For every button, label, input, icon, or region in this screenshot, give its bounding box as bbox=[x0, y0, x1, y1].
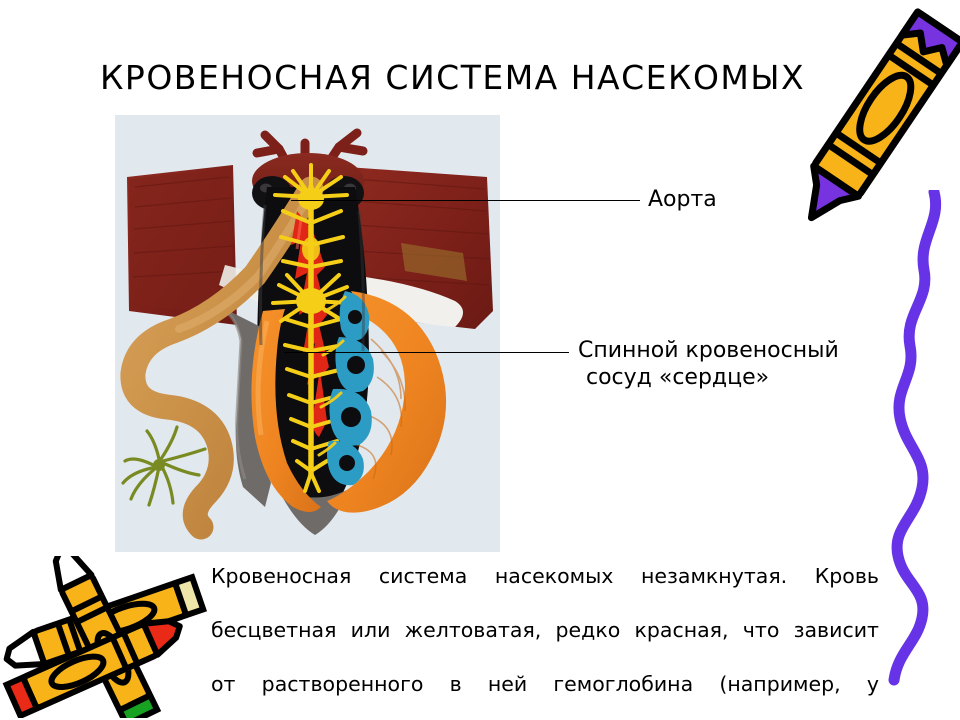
slide-root: КРОВЕНОСНАЯ СИСТЕМА НАСЕКОМЫХ bbox=[0, 0, 960, 720]
body-paragraph: Кровеносная система насекомых незамкнута… bbox=[211, 563, 879, 720]
insect-circulatory-model-image bbox=[115, 115, 500, 552]
purple-squiggle-icon bbox=[884, 190, 956, 694]
body-paragraph-line-3: от растворенного в ней гемоглобина (напр… bbox=[211, 671, 879, 720]
leader-line-dorsal-vessel bbox=[284, 352, 569, 353]
callout-label-dorsal-vessel: Спинной кровеносный сосуд «сердце» bbox=[578, 337, 839, 391]
insect-model-illustration bbox=[115, 115, 500, 552]
body-paragraph-line-2: бесцветная или желтоватая, редко красная… bbox=[211, 617, 879, 671]
callout-label-aorta: Аорта bbox=[648, 186, 717, 213]
leader-line-aorta bbox=[291, 200, 640, 201]
crossed-crayons-icon bbox=[2, 556, 212, 720]
body-paragraph-line-1: Кровеносная система насекомых незамкнута… bbox=[211, 563, 879, 617]
callout-label-dorsal-vessel-line1: Спинной кровеносный bbox=[578, 338, 839, 363]
callout-label-dorsal-vessel-line2: сосуд «сердце» bbox=[578, 364, 839, 391]
page-title: КРОВЕНОСНАЯ СИСТЕМА НАСЕКОМЫХ bbox=[100, 58, 880, 97]
